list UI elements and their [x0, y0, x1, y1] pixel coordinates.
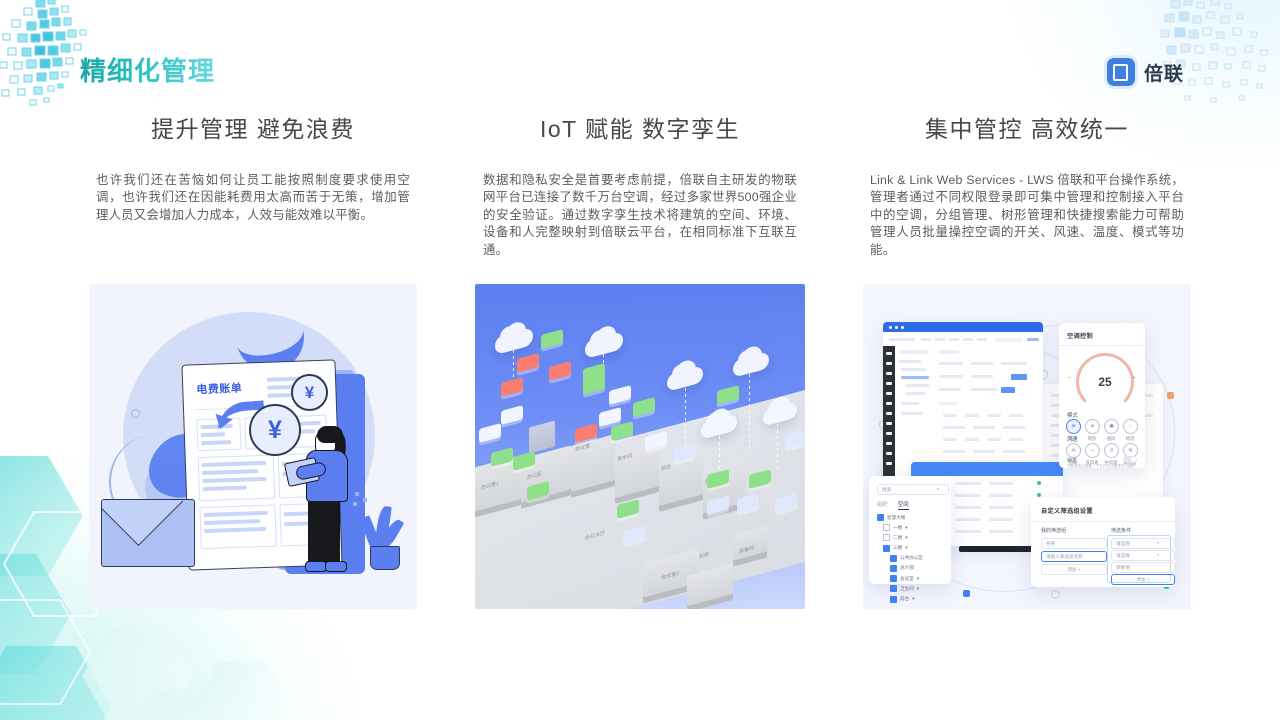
data-chip	[479, 423, 501, 443]
tab-space[interactable]: 空间	[898, 500, 909, 510]
chevron-down-icon: ▾	[1157, 552, 1159, 557]
tree-item-label: 智慧大楼	[887, 515, 905, 521]
filter-condition-select-1[interactable]: 请选择	[1111, 538, 1175, 549]
lws-dashboard-illustration: 空调控制 25 − + 模式 ✳ 制冷 ☀	[863, 284, 1191, 609]
tree-item-label: 公共办公区	[900, 555, 923, 561]
pixel-scatter-icon-right	[1155, 0, 1280, 114]
window-dot	[895, 326, 898, 329]
data-chip	[501, 405, 523, 425]
column-heading: IoT 赋能 数字孪生	[540, 112, 740, 146]
iso-stairs	[529, 421, 555, 454]
checkbox-icon[interactable]	[883, 524, 890, 531]
temperature-gauge[interactable]: 25	[1076, 353, 1134, 411]
lock-toggle[interactable]	[1123, 456, 1137, 463]
temp-increase-button[interactable]: +	[1132, 375, 1136, 382]
checkbox-icon[interactable]	[877, 514, 884, 521]
mode-button-heat[interactable]: ☀ 制热	[1085, 419, 1099, 442]
envelope-icon	[101, 499, 195, 567]
tree-item[interactable]: 会议室▾	[890, 575, 923, 582]
decorative-dot-icon	[1051, 590, 1060, 599]
page-title: 精细化管理	[80, 54, 215, 88]
space-tree-panel[interactable]: 搜索 ▾ 组织 空间 智慧大楼 一楼▾ 二楼▾ 三楼▾ 公共办公区 总介部 会议…	[869, 476, 951, 584]
tree-item[interactable]: 卫生间▾	[890, 585, 923, 592]
checkbox-icon[interactable]	[890, 565, 897, 572]
cloud-service-icon	[585, 331, 623, 359]
tree-item[interactable]: 总介部	[890, 565, 923, 572]
data-chip	[517, 353, 539, 373]
chevron-down-icon: ▾	[937, 486, 939, 491]
electricity-bill-illustration: 电费账单	[89, 284, 417, 609]
brand-name: 倍联	[1144, 59, 1184, 86]
checkbox-icon[interactable]	[883, 545, 890, 552]
low-fan-icon: –	[1085, 443, 1100, 458]
column-body-text: Link & Link Web Services - LWS 倍联和平台操作系统…	[870, 172, 1184, 276]
tree-item[interactable]: 一楼▾	[883, 524, 923, 531]
chevron-down-icon: ▾	[917, 576, 919, 582]
fan-icon: ✺	[1104, 419, 1119, 434]
tree-item-label: 三楼	[893, 545, 902, 551]
mode-section-label: 模式	[1067, 411, 1078, 419]
snowflake-icon: ✳	[1066, 419, 1081, 434]
mode-button-dry[interactable]: ◌ 除湿	[1123, 419, 1137, 442]
chevron-down-icon: ▾	[905, 525, 907, 531]
plant-pot	[370, 546, 400, 570]
column-iot-digital-twin: IoT 赋能 数字孪生 数据和隐私安全是首要考虑前提，倍联自主研发的物联网平台已…	[475, 112, 805, 609]
data-chip	[609, 385, 631, 405]
mid-fan-icon: ≡	[1104, 443, 1119, 458]
chevron-down-icon: ▾	[1157, 540, 1159, 545]
window-titlebar	[883, 322, 1043, 332]
tree-item-label: 二楼	[893, 535, 902, 541]
person-hair-front	[317, 426, 343, 443]
droplet-icon: ◌	[1123, 419, 1138, 434]
panel-divider	[1031, 521, 1175, 522]
filter-left-column-label: 我的筛选组	[1041, 527, 1066, 534]
slide-root: 精细化管理 倍联 提升管理 避免浪费 也许我们还在苦恼如何让员工能按照制度要求使…	[0, 0, 1280, 720]
checkbox-icon[interactable]	[890, 555, 897, 562]
column-heading: 提升管理 避免浪费	[151, 112, 355, 146]
coin-large-icon: ¥	[249, 404, 301, 456]
brand-logo: 倍联	[1107, 58, 1184, 86]
data-chip	[501, 377, 523, 397]
filter-left-add-button[interactable]: 添加 +	[1041, 564, 1107, 575]
mode-button-fan[interactable]: ✺ 通风	[1104, 419, 1118, 442]
data-chip	[549, 361, 571, 381]
tree-item[interactable]: 二楼▾	[883, 534, 923, 541]
temperature-value: 25	[1098, 375, 1111, 389]
tree-item[interactable]: 三楼▾	[883, 545, 923, 552]
tree-item-label: 前台	[900, 596, 909, 602]
lock-hint: 开启锁定后面板，下方开关功能将不可操作	[1067, 464, 1139, 469]
filter-param-input[interactable]: 参数值	[1111, 562, 1175, 573]
decorative-square-icon	[1167, 392, 1174, 399]
checkbox-icon[interactable]	[890, 575, 897, 582]
brand-mark-icon	[1107, 58, 1135, 86]
chevron-down-icon: ▾	[912, 596, 914, 602]
connector-line	[685, 388, 686, 450]
checkbox-icon[interactable]	[890, 596, 897, 603]
isometric-digital-twin-illustration: 办公室1 办公区 会议室 茶水间 前台 办公室2 办公大厅 会议室2 机房 设备…	[475, 284, 805, 609]
data-chip	[633, 397, 655, 417]
tab-organization[interactable]: 组织	[877, 500, 888, 510]
chevron-down-icon: ▾	[905, 535, 907, 541]
auto-icon: A	[1066, 443, 1081, 458]
cloud-service-icon	[733, 351, 769, 378]
data-chip	[717, 385, 739, 405]
checkbox-icon[interactable]	[890, 585, 897, 592]
filter-condition-select-2[interactable]: 请选择	[1111, 550, 1175, 561]
tree-tabs[interactable]: 组织 空间	[877, 500, 909, 510]
tree-item[interactable]: 前台▾	[890, 596, 923, 603]
filter-name-input[interactable]: 名称	[1041, 538, 1107, 549]
data-chip	[541, 329, 563, 349]
mode-label: 除湿	[1123, 436, 1137, 442]
chevron-down-icon: ▾	[905, 545, 907, 551]
brand-mark-inner-glyph	[1113, 64, 1128, 81]
sun-icon: ☀	[1085, 419, 1100, 434]
window-dot	[901, 326, 904, 329]
fan-button-mid[interactable]: ≡ 中风速	[1104, 443, 1118, 466]
ac-panel-title: 空调控制	[1067, 331, 1093, 340]
tree-list[interactable]: 智慧大楼 一楼▾ 二楼▾ 三楼▾ 公共办公区 总介部 会议室▾ 卫生间▾ 前台▾	[877, 514, 923, 603]
connector-line	[749, 374, 750, 452]
person-shoe-right	[325, 561, 347, 572]
decorative-dot-icon	[131, 409, 140, 418]
filter-name-placeholder-input[interactable]: 请输入筛选组名称	[1041, 551, 1107, 562]
tree-item-label: 卫生间	[900, 586, 914, 592]
custom-filter-panel[interactable]: 自定义筛选组设置 我的筛选组 筛选条件 名称 请输入筛选组名称 添加 + 请选择…	[1031, 497, 1175, 587]
sparkle-icon	[363, 498, 367, 502]
person-shoe-left	[305, 561, 327, 572]
tree-item-label: 一楼	[893, 525, 902, 531]
filter-right-add-button[interactable]: 添加 +	[1111, 574, 1175, 585]
checkbox-icon[interactable]	[883, 534, 890, 541]
sparkle-icon	[355, 492, 359, 496]
fan-button-low[interactable]: – 低风速	[1085, 443, 1099, 466]
connector-line	[777, 424, 778, 472]
column-body-text: 数据和隐私安全是首要考虑前提，倍联自主研发的物联网平台已连接了数千万台空调，经过…	[483, 172, 797, 276]
panel-divider	[1059, 345, 1145, 346]
column-centralized-control: 集中管控 高效统一 Link & Link Web Services - LWS…	[862, 112, 1192, 609]
tree-item-label: 总介部	[900, 565, 914, 571]
bill-title: 电费账单	[196, 380, 243, 398]
fan-section-label: 风速	[1067, 435, 1078, 443]
decorative-square-icon	[963, 590, 970, 597]
filter-panel-title: 自定义筛选组设置	[1041, 506, 1093, 515]
window-dot	[889, 326, 892, 329]
column-heading: 集中管控 高效统一	[925, 112, 1129, 146]
column-body-text: 也许我们还在苦恼如何让员工能按照制度要求使用空调，也许我们还在因能耗费用太高而苦…	[96, 172, 410, 276]
filter-right-column-label: 筛选条件	[1111, 527, 1131, 534]
columns-container: 提升管理 避免浪费 也许我们还在苦恼如何让员工能按照制度要求使用空调，也许我们还…	[0, 112, 1280, 609]
tree-item-label: 会议室	[900, 576, 914, 582]
mode-label: 通风	[1104, 436, 1118, 442]
ac-control-panel[interactable]: 空调控制 25 − + 模式 ✳ 制冷 ☀	[1059, 323, 1145, 468]
tree-item[interactable]: 智慧大楼	[877, 514, 923, 521]
tree-item[interactable]: 公共办公区	[890, 555, 923, 562]
person-legs	[308, 496, 340, 564]
sparkle-icon	[353, 502, 357, 506]
cloud-service-icon	[495, 327, 533, 355]
chevron-down-icon: ▾	[917, 586, 919, 592]
mode-label: 制热	[1085, 436, 1099, 442]
column-improve-management: 提升管理 避免浪费 也许我们还在苦恼如何让员工能按照制度要求使用空调，也许我们还…	[88, 112, 418, 609]
coin-small-icon: ¥	[291, 374, 328, 411]
temp-decrease-button[interactable]: −	[1067, 375, 1071, 382]
lock-label: 锁定	[1067, 457, 1077, 464]
